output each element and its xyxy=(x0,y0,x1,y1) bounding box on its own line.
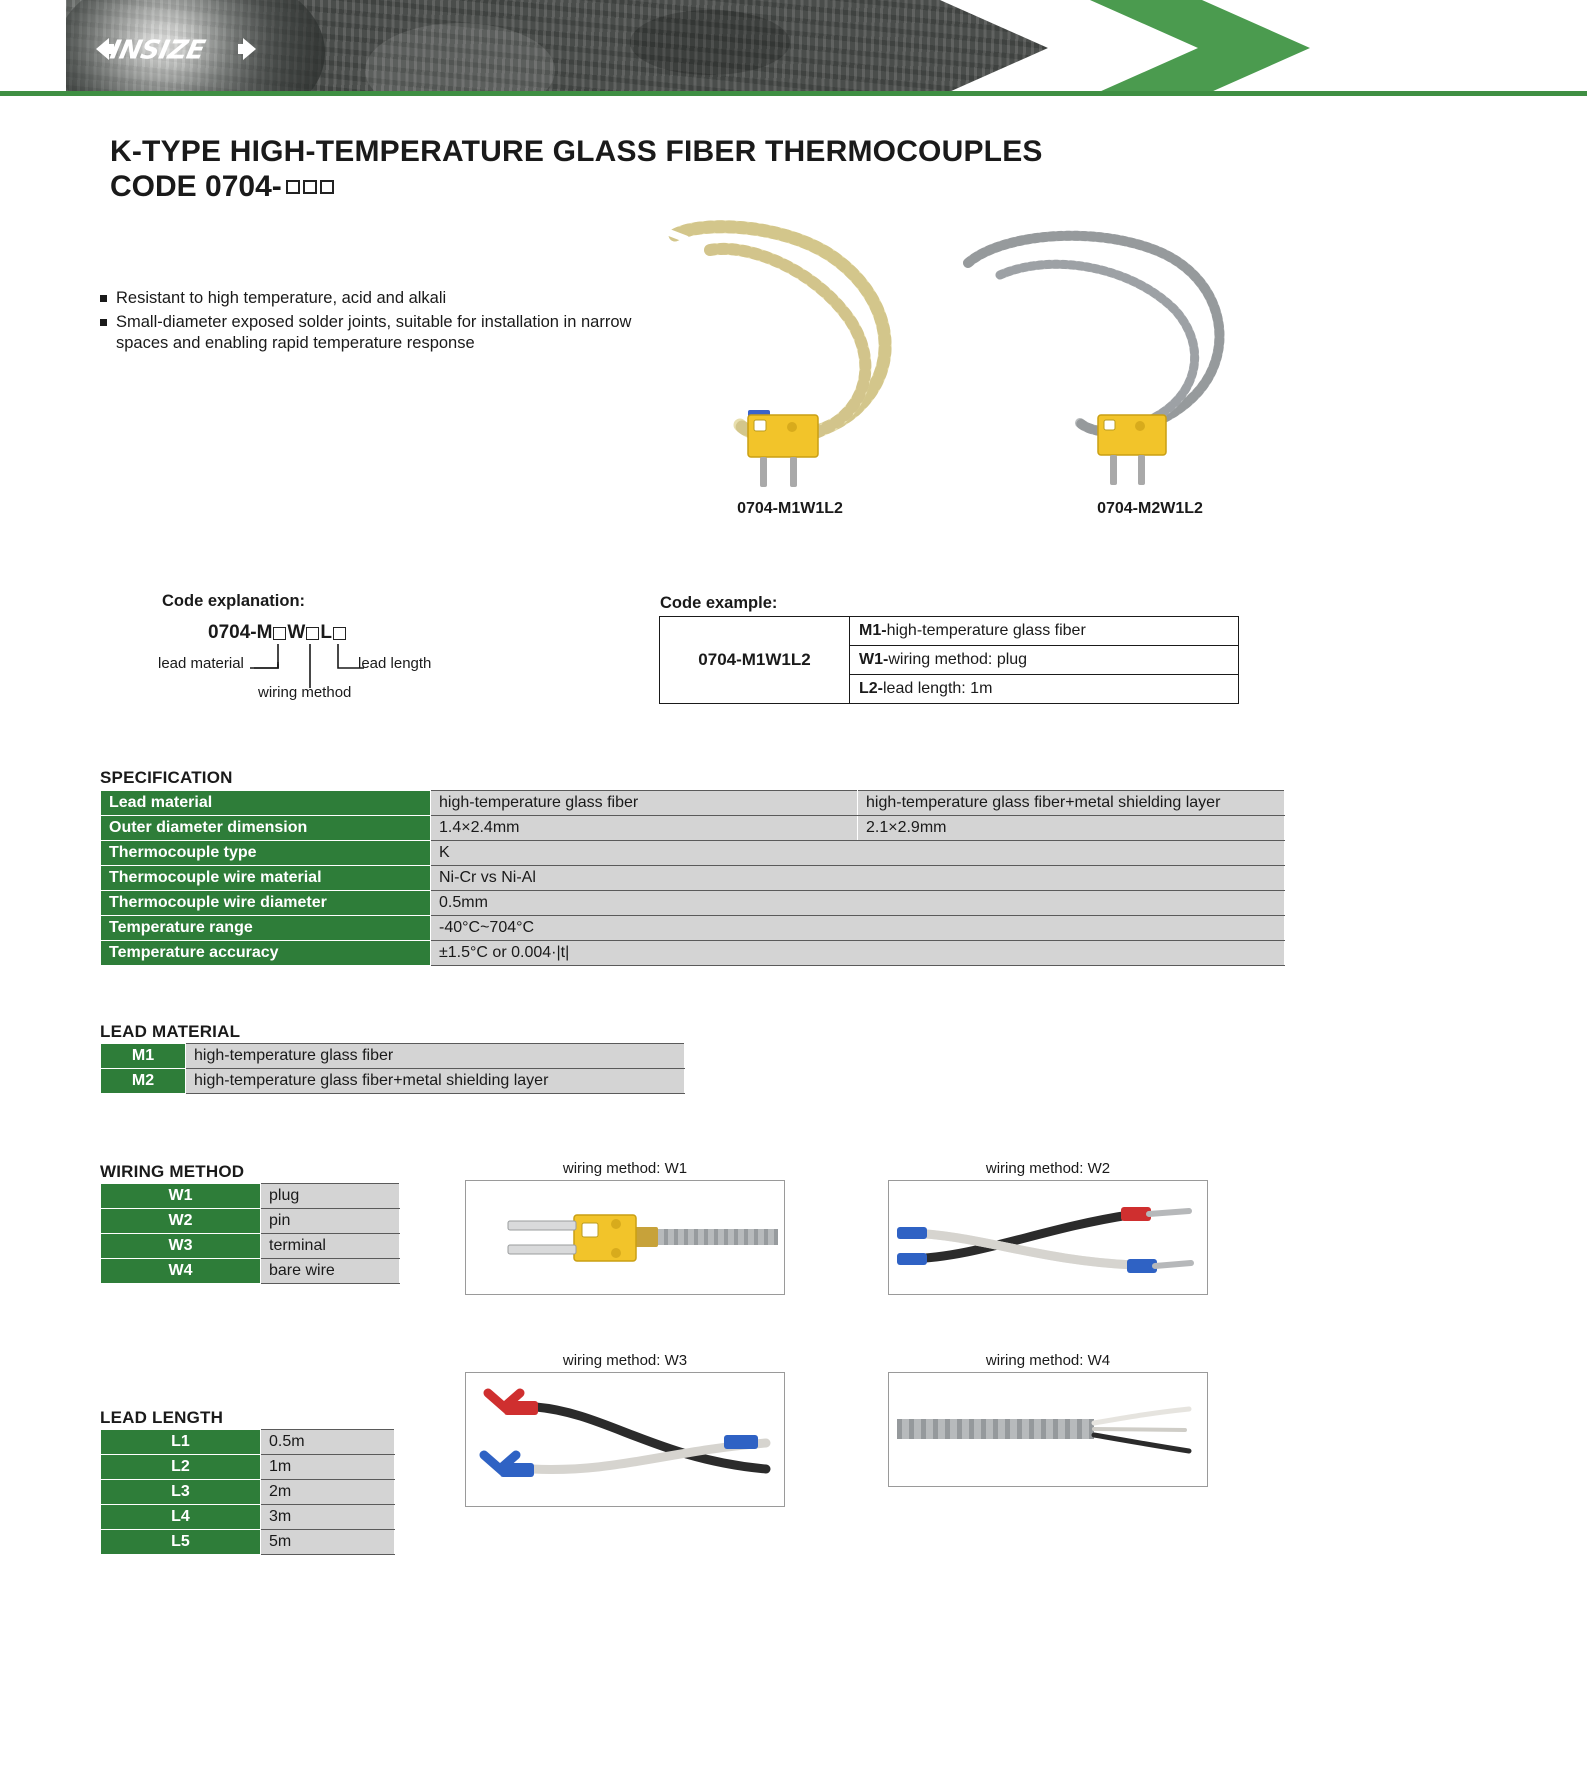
page-code-prefix: CODE 0704- xyxy=(110,170,282,204)
code-example-code: 0704-M1W1L2 xyxy=(660,617,850,704)
table-row: L3 2m xyxy=(101,1480,395,1505)
product-caption: 0704-M2W1L2 xyxy=(1000,500,1300,518)
code-example-value: high-temperature glass fiber xyxy=(887,622,1086,639)
page-header: INSIZE xyxy=(0,0,1587,96)
code-example-key: L2- xyxy=(859,680,883,697)
table-row: Thermocouple wire material Ni-Cr vs Ni-A… xyxy=(101,866,1285,891)
spec-value-col1: ±1.5°C or 0.004·|t| xyxy=(431,941,1285,966)
spec-value-col1: -40°C~704°C xyxy=(431,916,1285,941)
wiring-photo-w4 xyxy=(888,1372,1208,1487)
table-row: L2 1m xyxy=(101,1455,395,1480)
table-row: Outer diameter dimension 1.4×2.4mm 2.1×2… xyxy=(101,816,1285,841)
page-title: K-TYPE HIGH-TEMPERATURE GLASS FIBER THER… xyxy=(110,135,1043,169)
code-box-material xyxy=(273,627,286,640)
wiring-method-desc: terminal xyxy=(261,1234,400,1259)
table-row: M1 high-temperature glass fiber xyxy=(101,1044,685,1069)
product-photo-m2w1l2 xyxy=(940,215,1280,495)
wiring-photo-caption-w1: wiring method: W1 xyxy=(465,1160,785,1177)
table-row: W2 pin xyxy=(101,1209,400,1234)
spec-label: Lead material xyxy=(101,791,431,816)
spec-label: Temperature range xyxy=(101,916,431,941)
lead-material-table: M1 high-temperature glass fiber M2 high-… xyxy=(100,1043,685,1094)
wiring-method-code: W2 xyxy=(101,1209,261,1234)
lead-length-code: L5 xyxy=(101,1530,261,1555)
lead-length-code: L3 xyxy=(101,1480,261,1505)
wiring-method-code: W3 xyxy=(101,1234,261,1259)
table-row: Temperature accuracy ±1.5°C or 0.004·|t| xyxy=(101,941,1285,966)
table-row: Thermocouple wire diameter 0.5mm xyxy=(101,891,1285,916)
label-wiring-method: wiring method xyxy=(258,684,351,701)
spec-label: Outer diameter dimension xyxy=(101,816,431,841)
wiring-photo-caption-w2: wiring method: W2 xyxy=(888,1160,1208,1177)
spec-value-col1: 1.4×2.4mm xyxy=(431,816,858,841)
lead-material-code: M2 xyxy=(101,1069,186,1094)
wiring-photo-w3 xyxy=(465,1372,785,1507)
code-box-length xyxy=(333,627,346,640)
lead-length-code: L1 xyxy=(101,1430,261,1455)
feature-list: Resistant to high temperature, acid and … xyxy=(100,288,660,357)
wiring-method-code: W4 xyxy=(101,1259,261,1284)
spec-value-col1: 0.5mm xyxy=(431,891,1285,916)
code-example-value: lead length: 1m xyxy=(883,680,992,697)
table-row: Temperature range -40°C~704°C xyxy=(101,916,1285,941)
header-green-underline xyxy=(0,91,1587,96)
page-code-line: CODE 0704- xyxy=(110,170,334,204)
lead-length-code: L2 xyxy=(101,1455,261,1480)
code-example-cell: L2-lead length: 1m xyxy=(850,675,1239,704)
code-example-cell: W1-wiring method: plug xyxy=(850,646,1239,675)
wiring-method-desc: pin xyxy=(261,1209,400,1234)
list-item: Resistant to high temperature, acid and … xyxy=(100,288,660,309)
code-example-key: M1- xyxy=(859,622,887,639)
lead-length-desc: 1m xyxy=(261,1455,395,1480)
lead-length-desc: 5m xyxy=(261,1530,395,1555)
header-left-margin xyxy=(0,0,66,96)
wiring-photo-caption-w3: wiring method: W3 xyxy=(465,1352,785,1369)
wiring-method-table: W1 plug W2 pin W3 terminal W4 bare wire xyxy=(100,1183,400,1284)
wiring-method-code: W1 xyxy=(101,1184,261,1209)
code-example-cell: M1-high-temperature glass fiber xyxy=(850,617,1239,646)
wiring-method-desc: plug xyxy=(261,1184,400,1209)
table-row: W3 terminal xyxy=(101,1234,400,1259)
code-placeholder-box-1 xyxy=(286,180,300,194)
specification-table: Lead material high-temperature glass fib… xyxy=(100,790,1285,966)
code-example-table: 0704-M1W1L2 M1-high-temperature glass fi… xyxy=(659,616,1239,704)
table-row: W1 plug xyxy=(101,1184,400,1209)
lead-length-code: L4 xyxy=(101,1505,261,1530)
table-row: M2 high-temperature glass fiber+metal sh… xyxy=(101,1069,685,1094)
lead-length-heading: LEAD LENGTH xyxy=(100,1408,223,1428)
spec-value-col1: K xyxy=(431,841,1285,866)
spec-value-col2: high-temperature glass fiber+metal shiel… xyxy=(858,791,1285,816)
lead-length-desc: 2m xyxy=(261,1480,395,1505)
wiring-photo-caption-w4: wiring method: W4 xyxy=(888,1352,1208,1369)
code-box-wiring xyxy=(306,627,319,640)
list-item: Small-diameter exposed solder joints, su… xyxy=(100,312,660,354)
svg-text:INSIZE: INSIZE xyxy=(107,36,207,66)
table-row: L4 3m xyxy=(101,1505,395,1530)
code-example-title: Code example: xyxy=(660,594,777,613)
insize-logo: INSIZE xyxy=(96,30,256,68)
wiring-photo-w2 xyxy=(888,1180,1208,1295)
square-bullet-icon xyxy=(100,288,116,309)
spec-value-col1: Ni-Cr vs Ni-Al xyxy=(431,866,1285,891)
spec-label: Thermocouple type xyxy=(101,841,431,866)
table-row: L5 5m xyxy=(101,1530,395,1555)
lead-length-desc: 3m xyxy=(261,1505,395,1530)
header-chevron-shape xyxy=(940,0,1360,96)
lead-length-desc: 0.5m xyxy=(261,1430,395,1455)
lead-material-heading: LEAD MATERIAL xyxy=(100,1022,240,1042)
spec-label: Temperature accuracy xyxy=(101,941,431,966)
code-example-value: wiring method: plug xyxy=(888,651,1027,668)
spec-value-col2: 2.1×2.9mm xyxy=(858,816,1285,841)
lead-material-desc: high-temperature glass fiber xyxy=(186,1044,685,1069)
table-row: L1 0.5m xyxy=(101,1430,395,1455)
code-placeholder-box-2 xyxy=(303,180,317,194)
table-row: 0704-M1W1L2 M1-high-temperature glass fi… xyxy=(660,617,1239,646)
table-row: Thermocouple type K xyxy=(101,841,1285,866)
code-explanation-title: Code explanation: xyxy=(162,592,305,611)
label-lead-material: lead material xyxy=(158,655,244,672)
code-explanation-leader-lines xyxy=(150,640,490,720)
product-photo-m1w1l2 xyxy=(640,215,940,495)
spec-label: Thermocouple wire diameter xyxy=(101,891,431,916)
feature-text: Small-diameter exposed solder joints, su… xyxy=(116,312,660,354)
lead-material-code: M1 xyxy=(101,1044,186,1069)
table-row: W4 bare wire xyxy=(101,1259,400,1284)
lead-length-table: L1 0.5m L2 1m L3 2m L4 3m L5 5m xyxy=(100,1429,395,1555)
spec-label: Thermocouple wire material xyxy=(101,866,431,891)
lead-material-desc: high-temperature glass fiber+metal shiel… xyxy=(186,1069,685,1094)
specification-heading: SPECIFICATION xyxy=(100,768,233,788)
wiring-method-desc: bare wire xyxy=(261,1259,400,1284)
spec-value-col1: high-temperature glass fiber xyxy=(431,791,858,816)
code-example-key: W1- xyxy=(859,651,888,668)
square-bullet-icon xyxy=(100,312,116,354)
feature-text: Resistant to high temperature, acid and … xyxy=(116,288,660,309)
code-placeholder-box-3 xyxy=(320,180,334,194)
label-lead-length: lead length xyxy=(358,655,431,672)
table-row: Lead material high-temperature glass fib… xyxy=(101,791,1285,816)
wiring-photo-w1 xyxy=(465,1180,785,1295)
product-caption: 0704-M1W1L2 xyxy=(640,500,940,518)
wiring-method-heading: WIRING METHOD xyxy=(100,1162,244,1182)
